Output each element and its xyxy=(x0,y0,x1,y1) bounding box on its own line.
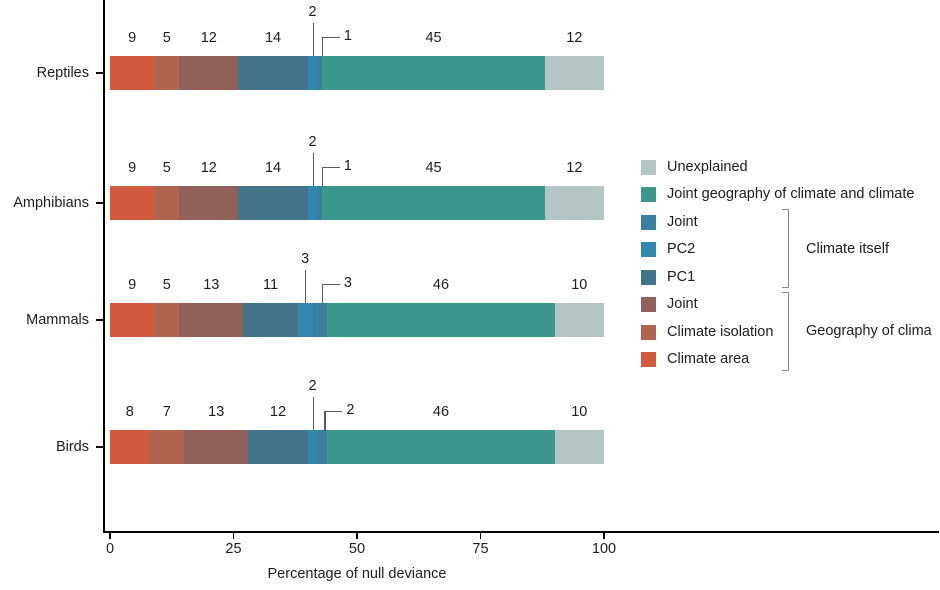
leader-line xyxy=(322,167,340,168)
y-tick-label-amphibians: Amphibians xyxy=(13,195,89,211)
y-tick-amphibians xyxy=(96,202,103,204)
bar-segment xyxy=(110,303,154,337)
bar-segment xyxy=(238,186,307,220)
bar-value-label: 2 xyxy=(346,402,354,418)
bar-segment xyxy=(179,56,238,90)
bar-segment xyxy=(555,430,604,464)
x-tick-75 xyxy=(480,532,482,539)
bar-value-label: 2 xyxy=(308,4,316,20)
x-tick-label-100: 100 xyxy=(592,541,616,557)
bar-segment xyxy=(184,430,248,464)
legend-bracket xyxy=(782,209,789,288)
bar-value-label: 7 xyxy=(163,404,171,420)
leader-line xyxy=(324,411,342,412)
bar-value-label: 1 xyxy=(344,28,352,44)
legend-swatch xyxy=(641,160,656,175)
bar-segment xyxy=(150,430,185,464)
bar-value-label: 12 xyxy=(566,30,582,46)
legend-item[interactable]: PC2 xyxy=(641,243,695,257)
x-tick-label-75: 75 xyxy=(472,541,488,557)
bar-row xyxy=(110,56,604,90)
bar-value-label: 46 xyxy=(433,277,449,293)
legend-swatch xyxy=(641,352,656,367)
bar-segment xyxy=(327,430,554,464)
bar-value-label: 14 xyxy=(265,160,281,176)
legend-item-label: Unexplained xyxy=(667,160,748,175)
bar-segment xyxy=(308,186,318,220)
y-tick-label-reptiles: Reptiles xyxy=(37,65,89,81)
legend-swatch xyxy=(641,325,656,340)
bar-value-label: 11 xyxy=(263,277,278,293)
legend-item[interactable]: Climate isolation xyxy=(641,325,773,339)
legend-item[interactable]: Joint xyxy=(641,298,698,312)
bar-value-label: 5 xyxy=(163,277,171,293)
bar-value-label: 2 xyxy=(308,378,316,394)
bar-value-label: 10 xyxy=(571,404,587,420)
legend-item[interactable]: Unexplained xyxy=(641,160,748,174)
bar-segment xyxy=(298,303,313,337)
bar-row xyxy=(110,186,604,220)
bar-value-label: 13 xyxy=(203,277,219,293)
legend-item[interactable]: Climate area xyxy=(641,353,749,367)
x-tick-label-0: 0 xyxy=(106,541,114,557)
legend-swatch xyxy=(641,187,656,202)
bar-segment xyxy=(545,186,604,220)
legend-item-label: PC2 xyxy=(667,242,695,257)
bar-value-label: 45 xyxy=(425,30,441,46)
bar-segment xyxy=(110,56,154,90)
y-tick-label-birds: Birds xyxy=(56,439,89,455)
bar-value-label: 14 xyxy=(265,30,281,46)
bar-value-label: 9 xyxy=(128,160,136,176)
x-tick-50 xyxy=(356,532,358,539)
bar-segment xyxy=(313,303,328,337)
legend-swatch xyxy=(641,242,656,257)
y-tick-reptiles xyxy=(96,72,103,74)
bar-value-label: 1 xyxy=(344,158,352,174)
legend-bracket-label: Geography of clima xyxy=(806,323,932,339)
bar-segment xyxy=(545,56,604,90)
x-tick-label-50: 50 xyxy=(349,541,365,557)
legend-item-label: Joint xyxy=(667,215,698,230)
bar-segment xyxy=(248,430,307,464)
bar-segment xyxy=(308,56,318,90)
leader-line xyxy=(313,153,314,186)
x-tick-0 xyxy=(109,532,111,539)
legend-item-label: Joint xyxy=(667,297,698,312)
y-tick-birds xyxy=(96,446,103,448)
variance-partitioning-chart: 0255075100 ReptilesAmphibiansMammalsBird… xyxy=(0,0,940,590)
bar-value-label: 8 xyxy=(126,404,134,420)
bar-value-label: 13 xyxy=(208,404,224,420)
bar-segment xyxy=(327,303,554,337)
bar-value-label: 3 xyxy=(344,275,352,291)
y-axis-line xyxy=(103,0,105,532)
bar-value-label: 5 xyxy=(163,160,171,176)
leader-line xyxy=(322,37,340,38)
legend-swatch xyxy=(641,215,656,230)
legend-item[interactable]: Joint xyxy=(641,215,698,229)
bar-segment xyxy=(179,303,243,337)
legend-item[interactable]: Joint geography of climate and climate xyxy=(641,188,914,202)
bar-value-label: 3 xyxy=(301,251,309,267)
x-tick-25 xyxy=(233,532,235,539)
bar-segment xyxy=(243,303,297,337)
legend-item-label: PC1 xyxy=(667,270,695,285)
legend-item-label: Climate area xyxy=(667,352,749,367)
leader-line xyxy=(322,167,323,186)
bar-segment xyxy=(322,56,544,90)
bar-segment xyxy=(179,186,238,220)
bar-segment xyxy=(322,186,544,220)
bar-value-label: 5 xyxy=(163,30,171,46)
leader-line xyxy=(324,411,325,430)
x-tick-label-25: 25 xyxy=(225,541,241,557)
bar-value-label: 45 xyxy=(425,160,441,176)
bar-value-label: 12 xyxy=(566,160,582,176)
legend-item-label: Joint geography of climate and climate xyxy=(667,187,914,202)
legend-item[interactable]: PC1 xyxy=(641,270,695,284)
bar-segment xyxy=(317,430,327,464)
bar-value-label: 9 xyxy=(128,30,136,46)
x-axis-title: Percentage of null deviance xyxy=(268,566,447,582)
bar-segment xyxy=(154,186,179,220)
bar-value-label: 12 xyxy=(201,30,217,46)
x-tick-100 xyxy=(603,532,605,539)
leader-line xyxy=(322,284,340,285)
x-axis-line xyxy=(103,531,939,533)
leader-line xyxy=(313,23,314,56)
legend-item-label: Climate isolation xyxy=(667,325,773,340)
bar-value-label: 12 xyxy=(270,404,286,420)
bar-segment xyxy=(238,56,307,90)
bar-value-label: 12 xyxy=(201,160,217,176)
bar-segment xyxy=(154,56,179,90)
bar-segment xyxy=(308,430,318,464)
legend-bracket-label: Climate itself xyxy=(806,241,889,257)
bar-row xyxy=(110,430,604,464)
legend-swatch xyxy=(641,297,656,312)
y-tick-mammals xyxy=(96,319,103,321)
leader-line xyxy=(322,37,323,56)
leader-line xyxy=(322,284,323,303)
bar-segment xyxy=(110,430,150,464)
legend-bracket xyxy=(782,292,789,371)
leader-line xyxy=(305,270,306,303)
bar-value-label: 46 xyxy=(433,404,449,420)
bar-row xyxy=(110,303,604,337)
legend-swatch xyxy=(641,270,656,285)
bar-value-label: 10 xyxy=(571,277,587,293)
y-tick-label-mammals: Mammals xyxy=(26,312,89,328)
bar-segment xyxy=(110,186,154,220)
bar-value-label: 9 xyxy=(128,277,136,293)
leader-line xyxy=(313,397,314,430)
bar-value-label: 2 xyxy=(308,134,316,150)
bar-segment xyxy=(154,303,179,337)
bar-segment xyxy=(555,303,604,337)
